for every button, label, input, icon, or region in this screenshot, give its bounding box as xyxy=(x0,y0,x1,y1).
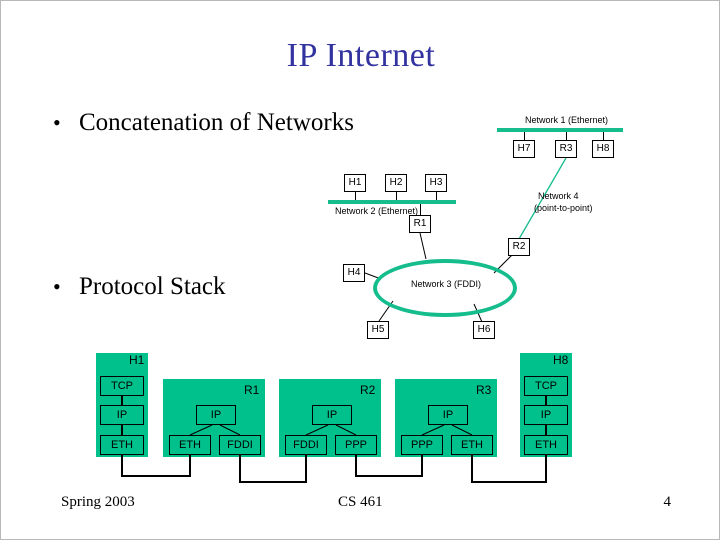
wire-r3-eth-down xyxy=(471,455,473,483)
bullet-protocol-stack: •Protocol Stack xyxy=(53,273,226,301)
node-r3[interactable]: R3 xyxy=(555,140,577,158)
network-4-label-line1: Network 4 xyxy=(538,191,579,201)
link-net2-h1 xyxy=(355,192,356,200)
wire-r3-ppp-down xyxy=(421,455,423,477)
link-h1-tcp-ip xyxy=(121,396,123,405)
footer-page-number: 4 xyxy=(664,494,672,511)
bullet-text: Concatenation of Networks xyxy=(79,109,354,136)
bullet-concatenation-of-networks: •Concatenation of Networks xyxy=(53,109,354,137)
bullet-marker: • xyxy=(53,274,79,300)
node-r2[interactable]: R2 xyxy=(508,238,530,256)
wire-r2-fddi-down xyxy=(305,455,307,483)
proto-r1-eth[interactable]: ETH xyxy=(169,435,211,455)
network-3-label: Network 3 (FDDI) xyxy=(411,279,481,289)
page-title: IP Internet xyxy=(1,37,720,75)
node-h1[interactable]: H1 xyxy=(344,174,366,192)
stack-label-r3: R3 xyxy=(476,383,491,397)
network-4-label-line2: (point-to-point) xyxy=(534,203,593,213)
node-h4[interactable]: H4 xyxy=(343,264,365,282)
node-h5[interactable]: H5 xyxy=(367,321,389,339)
stack-label-h8: H8 xyxy=(553,353,568,367)
link-h8-tcp-ip xyxy=(545,396,547,405)
proto-r1-ip[interactable]: IP xyxy=(196,405,236,425)
proto-r3-ppp[interactable]: PPP xyxy=(401,435,443,455)
stack-label-h1: H1 xyxy=(129,353,144,367)
network-1-label: Network 1 (Ethernet) xyxy=(525,115,608,125)
proto-r1-fddi[interactable]: FDDI xyxy=(219,435,261,455)
slide: IP Internet •Concatenation of Networks •… xyxy=(0,0,720,540)
proto-h1-tcp[interactable]: TCP xyxy=(100,376,144,396)
footer-course: CS 461 xyxy=(338,494,383,511)
bullet-text: Protocol Stack xyxy=(79,273,226,300)
wire-h8-eth-down xyxy=(545,455,547,483)
proto-r2-fddi[interactable]: FDDI xyxy=(285,435,327,455)
node-h3[interactable]: H3 xyxy=(425,174,447,192)
wire-r1-eth-down xyxy=(189,455,191,477)
proto-h8-eth[interactable]: ETH xyxy=(524,435,568,455)
wire-r2-r3 xyxy=(355,475,422,477)
proto-r2-ppp[interactable]: PPP xyxy=(335,435,377,455)
proto-h8-tcp[interactable]: TCP xyxy=(524,376,568,396)
node-h6[interactable]: H6 xyxy=(473,321,495,339)
node-h2[interactable]: H2 xyxy=(385,174,407,192)
link-h8-ip-eth xyxy=(545,425,547,435)
network-1-bus xyxy=(497,128,623,132)
proto-r3-ip[interactable]: IP xyxy=(428,405,468,425)
proto-r2-ip[interactable]: IP xyxy=(312,405,352,425)
network-2-label: Network 2 (Ethernet) xyxy=(335,206,418,216)
proto-h8-ip[interactable]: IP xyxy=(524,405,568,425)
wire-r3-h8 xyxy=(471,481,546,483)
stack-label-r2: R2 xyxy=(360,383,375,397)
wire-h1-r1 xyxy=(121,475,190,477)
network-2-bus xyxy=(328,200,456,204)
node-h8[interactable]: H8 xyxy=(592,140,614,158)
wire-r1-r2 xyxy=(239,481,306,483)
proto-h1-eth[interactable]: ETH xyxy=(100,435,144,455)
node-r1[interactable]: R1 xyxy=(409,215,431,233)
link-h1-ip-eth xyxy=(121,425,123,435)
bullet-marker: • xyxy=(53,110,79,136)
node-h7[interactable]: H7 xyxy=(513,140,535,158)
footer-term: Spring 2003 xyxy=(61,494,135,511)
proto-r3-eth[interactable]: ETH xyxy=(451,435,493,455)
wire-r2-ppp-down xyxy=(355,455,357,477)
link-net2-h2 xyxy=(396,192,397,200)
stack-label-r1: R1 xyxy=(244,383,259,397)
link-net2-r1 xyxy=(420,204,421,215)
wire-h1-eth-down xyxy=(121,455,123,477)
proto-h1-ip[interactable]: IP xyxy=(100,405,144,425)
link-net2-h3 xyxy=(436,192,437,200)
wire-r1-fddi-down xyxy=(239,455,241,483)
